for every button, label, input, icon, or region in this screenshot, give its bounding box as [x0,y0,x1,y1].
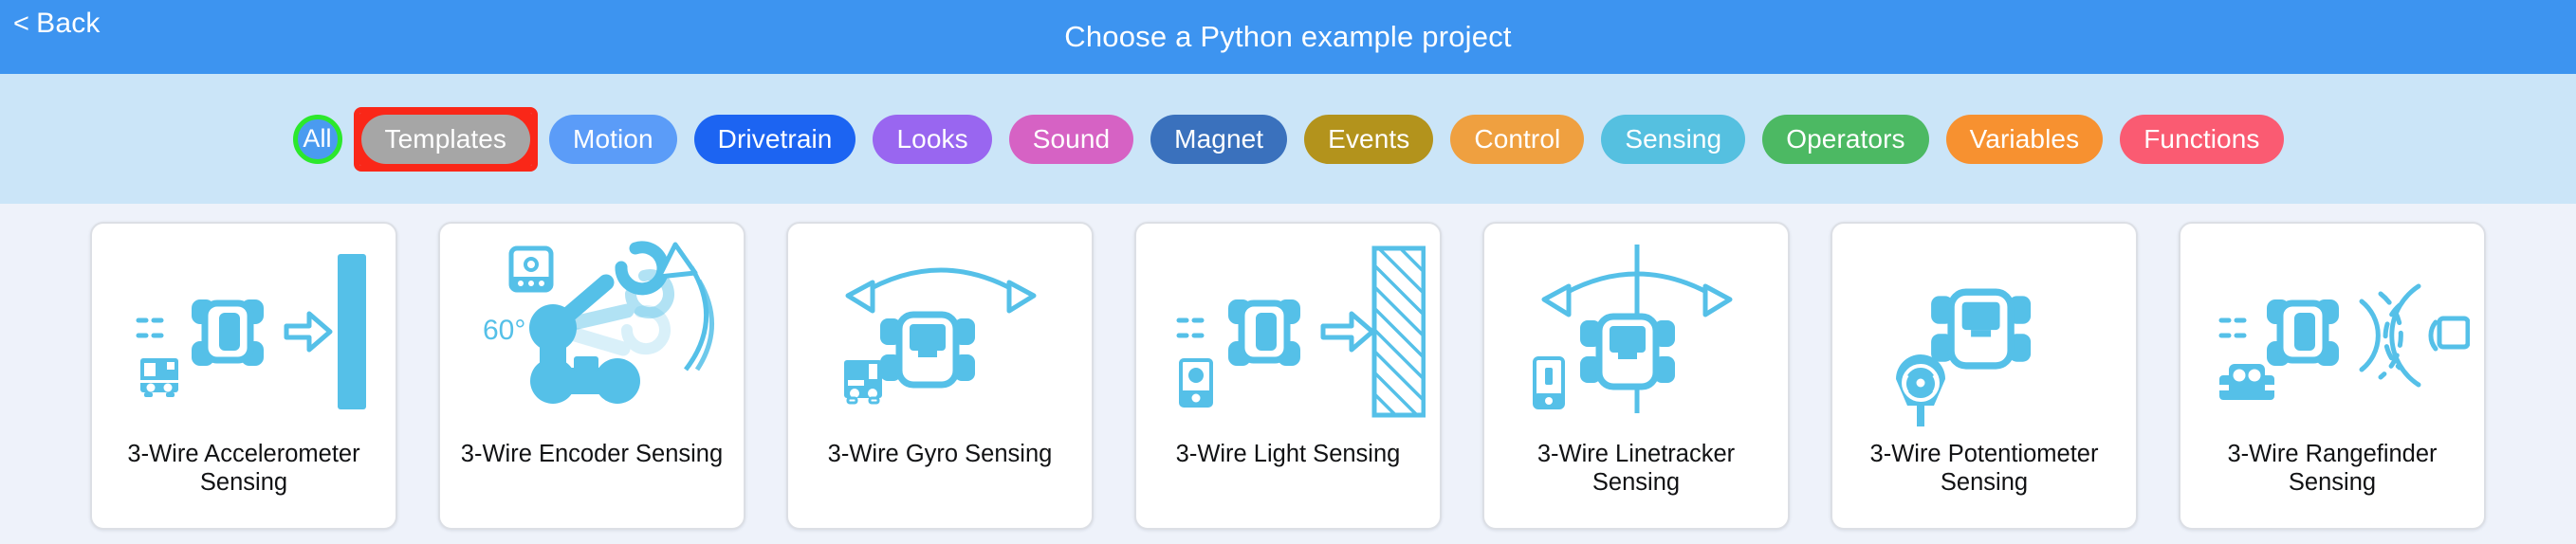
category-pill-all[interactable]: All [293,115,342,164]
card-title-line-1: 3-Wire Gyro Sensing [828,440,1053,468]
category-pill-magnet[interactable]: Magnet [1150,115,1287,164]
example-project-grid-area: 3-Wire AccelerometerSensing [0,204,2576,544]
category-pill-label: Functions [2144,124,2259,154]
category-pill-label: Variables [1970,124,2080,154]
category-pill-motion[interactable]: Motion [549,115,677,164]
category-pill-templates[interactable]: Templates [361,115,531,164]
category-pill-label: Looks [896,124,967,154]
example-project-card[interactable]: 3-Wire Light Sensing [1134,222,1442,530]
gyro-sensing-icon [788,224,1092,440]
card-title-line-1: 3-Wire Potentiometer [1870,440,2099,468]
category-pill-sound[interactable]: Sound [1009,115,1133,164]
category-pill-wrap-operators: Operators [1762,115,1928,164]
rangefinder-sensing-icon [2180,224,2484,440]
example-project-card-title: 3-Wire AccelerometerSensing [92,440,396,528]
example-project-card[interactable]: 3-Wire AccelerometerSensing [90,222,397,530]
category-pill-wrap-sensing: Sensing [1601,115,1745,164]
linetracker-sensing-icon [1484,224,1788,440]
example-project-grid: 3-Wire AccelerometerSensing [0,204,2576,544]
category-pill-label: All [303,124,331,154]
card-title-line-2: Sensing [1537,468,1735,497]
example-project-card-title: 3-Wire Encoder Sensing [440,440,744,528]
category-pill-label: Templates [385,124,507,154]
category-pill-label: Operators [1786,124,1904,154]
encoder-sensing-icon: 60° [440,224,744,440]
category-pill-control[interactable]: Control [1450,115,1584,164]
example-project-card[interactable]: 3-Wire RangefinderSensing [2179,222,2486,530]
category-pill-wrap-events: Events [1304,115,1433,164]
example-project-card-title: 3-Wire Gyro Sensing [788,440,1092,528]
card-title-line-2: Sensing [2227,468,2437,497]
card-title-line-2: Sensing [127,468,359,497]
category-pill-wrap-templates: Templates [359,113,533,166]
card-title-line-1: 3-Wire Encoder Sensing [461,440,723,468]
light-sensing-icon [1136,224,1440,440]
example-project-card-title: 3-Wire Light Sensing [1136,440,1440,528]
example-project-card[interactable]: 3-Wire LinetrackerSensing [1482,222,1790,530]
card-title-line-2: Sensing [1870,468,2099,497]
accelerometer-sensing-icon [92,224,396,440]
potentiometer-sensing-icon [1832,224,2136,440]
example-project-card-title: 3-Wire LinetrackerSensing [1484,440,1788,528]
category-pill-drivetrain[interactable]: Drivetrain [694,115,856,164]
example-project-card[interactable]: 3-Wire PotentiometerSensing [1831,222,2138,530]
category-pill-label: Control [1474,124,1560,154]
category-pill-row: AllTemplatesMotionDrivetrainLooksSoundMa… [0,74,2576,204]
category-pill-label: Sensing [1625,124,1721,154]
category-pill-wrap-motion: Motion [549,115,677,164]
example-project-chooser: < Back Choose a Python example project A… [0,0,2576,544]
svg-text:60°: 60° [483,315,525,346]
category-pill-looks[interactable]: Looks [873,115,991,164]
category-pill-wrap-looks: Looks [873,115,991,164]
example-project-card[interactable]: 60° 3-Wire Encoder Sensing [438,222,745,530]
category-pill-wrap-all: All [293,115,342,164]
category-pill-label: Magnet [1174,124,1263,154]
category-filter-bar: AllTemplatesMotionDrivetrainLooksSoundMa… [0,74,2576,204]
category-pill-events[interactable]: Events [1304,115,1433,164]
card-title-line-1: 3-Wire Rangefinder [2227,440,2437,468]
category-pill-label: Drivetrain [718,124,833,154]
example-project-card-title: 3-Wire RangefinderSensing [2180,440,2484,528]
card-title-line-1: 3-Wire Light Sensing [1176,440,1401,468]
card-title-line-1: 3-Wire Linetracker [1537,440,1735,468]
category-pill-variables[interactable]: Variables [1946,115,2104,164]
card-title-line-1: 3-Wire Accelerometer [127,440,359,468]
category-pill-wrap-drivetrain: Drivetrain [694,115,856,164]
category-pill-wrap-control: Control [1450,115,1584,164]
category-pill-wrap-functions: Functions [2120,115,2283,164]
example-project-card[interactable]: 3-Wire Gyro Sensing [786,222,1094,530]
category-pill-label: Sound [1033,124,1110,154]
category-pill-sensing[interactable]: Sensing [1601,115,1745,164]
category-pill-label: Motion [573,124,653,154]
example-project-card-title: 3-Wire PotentiometerSensing [1832,440,2136,528]
category-pill-wrap-sound: Sound [1009,115,1133,164]
category-pill-label: Events [1328,124,1409,154]
category-pill-wrap-magnet: Magnet [1150,115,1287,164]
category-pill-wrap-variables: Variables [1946,115,2104,164]
category-pill-functions[interactable]: Functions [2120,115,2283,164]
category-pill-operators[interactable]: Operators [1762,115,1928,164]
page-header: < Back Choose a Python example project [0,0,2576,74]
page-title: Choose a Python example project [0,0,2576,74]
